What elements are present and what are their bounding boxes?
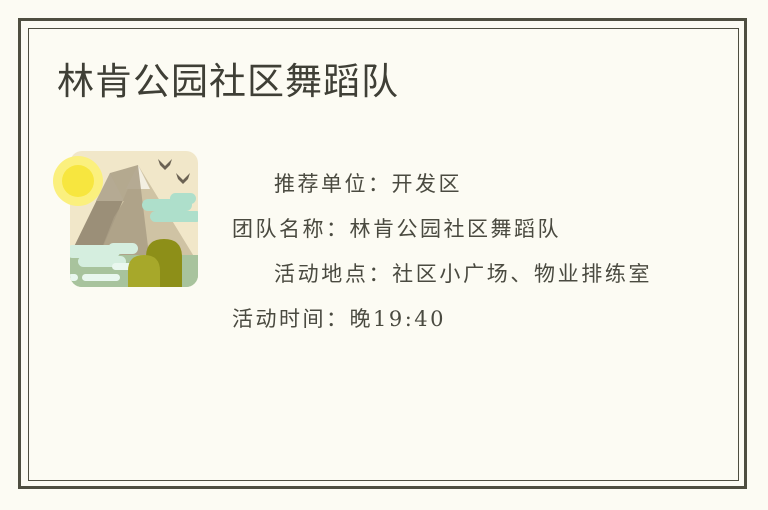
poster-card: 林肯公园社区舞蹈队 (0, 0, 768, 510)
sun-core-icon (62, 165, 94, 197)
page-title: 林肯公园社区舞蹈队 (57, 59, 399, 105)
detail-line-recommending-unit: 推荐单位：开发区 (232, 162, 652, 207)
detail-line-team-name: 团队名称：林肯公园社区舞蹈队 (232, 207, 652, 252)
team-details-text: 推荐单位：开发区 团队名称：林肯公园社区舞蹈队 活动地点：社区小广场、物业排练室… (232, 162, 652, 342)
mountain-landscape-illustration (52, 143, 208, 295)
detail-line-location-and-time: 活动地点：社区小广场、物业排练室 活动时间：晚19:40 (232, 252, 652, 342)
